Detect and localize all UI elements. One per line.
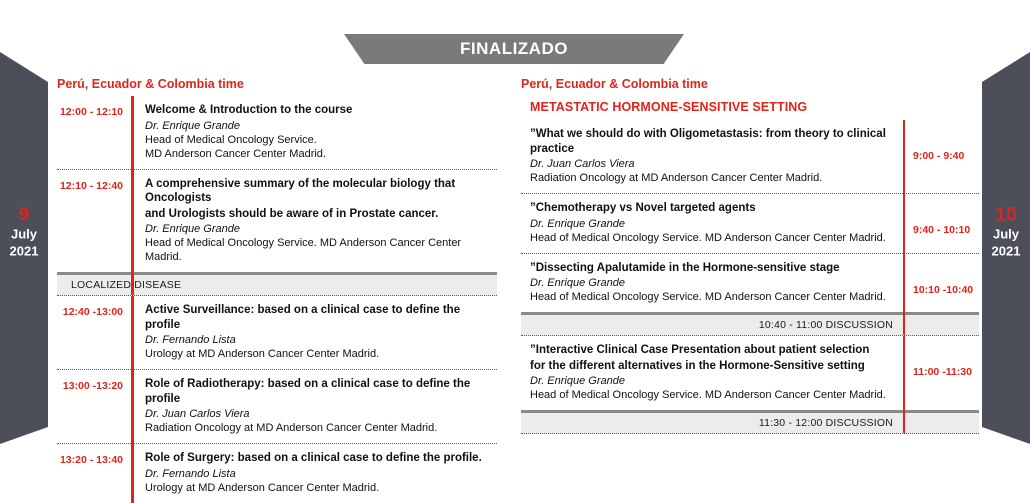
date-right-day: 10 (982, 205, 1030, 226)
date-right-year: 2021 (982, 243, 1030, 260)
timeline-rail-segment (131, 272, 134, 295)
agenda-column-day2: Perú, Ecuador & Colombia time METASTATIC… (521, 76, 979, 434)
date-block-right: 10 July 2021 (982, 20, 1030, 444)
discussion-band-label: 11:30 - 12:00 DISCUSSION (759, 417, 893, 429)
session-speaker: Dr. Enrique Grande (530, 217, 889, 231)
session-speaker: Dr. Juan Carlos Viera (145, 407, 497, 421)
left-session-group-1: 12:00 - 12:10 Welcome & Introduction to … (57, 96, 497, 272)
session-row[interactable]: ”Dissecting Apalutamide in the Hormone-s… (521, 253, 979, 313)
session-title: Welcome & Introduction to the course (145, 103, 497, 118)
session-time: 9:40 - 10:10 (903, 201, 979, 237)
session-row[interactable]: ”What we should do with Oligometastasis:… (521, 120, 979, 193)
session-speaker: Dr. Enrique Grande (530, 276, 889, 290)
date-left-year: 2021 (0, 243, 48, 260)
session-affiliation: Head of Medical Oncology Service. MD And… (530, 290, 889, 304)
date-left-day: 9 (0, 205, 48, 226)
session-speaker: Dr. Juan Carlos Viera (530, 157, 889, 171)
discussion-band-label: 10:40 - 11:00 DISCUSSION (759, 319, 893, 331)
discussion-band-1: 10:40 - 11:00 DISCUSSION (521, 312, 979, 336)
right-timezone-heading: Perú, Ecuador & Colombia time (521, 76, 979, 92)
session-title: Role of Surgery: based on a clinical cas… (145, 451, 497, 466)
right-section-heading: METASTATIC HORMONE-SENSITIVE SETTING (530, 99, 979, 115)
right-session-group-2: ”Interactive Clinical Case Presentation … (521, 336, 979, 410)
session-title: Role of Radiotherapy: based on a clinica… (145, 377, 497, 406)
session-row[interactable]: ”Chemotherapy vs Novel targeted agents D… (521, 193, 979, 253)
session-affiliation: Urology at MD Anderson Cancer Center Mad… (145, 347, 497, 361)
session-title: ”Dissecting Apalutamide in the Hormone-s… (530, 261, 889, 276)
status-banner-label: FINALIZADO (460, 39, 568, 59)
session-speaker: Dr. Fernando Lista (145, 333, 497, 347)
session-title: Active Surveillance: based on a clinical… (145, 303, 497, 332)
session-row[interactable]: 13:20 - 13:40 Role of Surgery: based on … (57, 443, 497, 503)
date-left-month: July (0, 226, 48, 243)
session-time: 11:00 -11:30 (903, 343, 979, 379)
section-band-label: LOCALIZED DISEASE (71, 279, 181, 291)
right-session-group-1: ”What we should do with Oligometastasis:… (521, 120, 979, 312)
left-session-group-2: 12:40 -13:00 Active Surveillance: based … (57, 296, 497, 503)
session-row[interactable]: 12:40 -13:00 Active Surveillance: based … (57, 296, 497, 369)
session-affiliation: Head of Medical Oncology Service. MD And… (530, 231, 889, 245)
session-row[interactable]: 12:00 - 12:10 Welcome & Introduction to … (57, 96, 497, 169)
session-time: 9:00 - 9:40 (903, 127, 979, 163)
session-title: ”Chemotherapy vs Novel targeted agents (530, 201, 889, 216)
date-block-left: 9 July 2021 (0, 20, 48, 444)
session-affiliation: Head of Medical Oncology Service. MD And… (530, 388, 889, 402)
session-time: 12:00 - 12:10 (57, 103, 131, 119)
session-time: 13:20 - 13:40 (57, 451, 131, 467)
session-affiliation: Radiation Oncology at MD Anderson Cancer… (530, 171, 889, 185)
session-time: 13:00 -13:20 (57, 377, 131, 393)
session-title: A comprehensive summary of the molecular… (145, 177, 497, 206)
session-affiliation: Urology at MD Anderson Cancer Center Mad… (145, 481, 497, 495)
session-row[interactable]: ”Interactive Clinical Case Presentation … (521, 336, 979, 410)
session-speaker: Dr. Enrique Grande (530, 374, 889, 388)
section-band-localized-disease: LOCALIZED DISEASE (57, 272, 497, 296)
session-affiliation-2: MD Anderson Cancer Center Madrid. (145, 147, 497, 161)
session-title-2: for the different alternatives in the Ho… (530, 359, 889, 374)
left-timezone-heading: Perú, Ecuador & Colombia time (57, 76, 497, 92)
session-affiliation: Head of Medical Oncology Service. (145, 133, 497, 147)
session-time: 10:10 -10:40 (903, 261, 979, 297)
session-speaker: Dr. Enrique Grande (145, 222, 497, 236)
discussion-band-2: 11:30 - 12:00 DISCUSSION (521, 410, 979, 434)
date-right-month: July (982, 226, 1030, 243)
session-title-2: and Urologists should be aware of in Pro… (145, 207, 497, 222)
session-affiliation: Radiation Oncology at MD Anderson Cancer… (145, 421, 497, 435)
timeline-rail-segment (903, 312, 906, 335)
session-time: 12:40 -13:00 (57, 303, 131, 319)
session-affiliation: Head of Medical Oncology Service. MD And… (145, 236, 497, 264)
session-row[interactable]: 12:10 - 12:40 A comprehensive summary of… (57, 169, 497, 273)
session-row[interactable]: 13:00 -13:20 Role of Radiotherapy: based… (57, 369, 497, 443)
session-title: ”Interactive Clinical Case Presentation … (530, 343, 889, 358)
status-banner: FINALIZADO (344, 34, 684, 64)
agenda-column-day1: Perú, Ecuador & Colombia time 12:00 - 12… (57, 76, 497, 503)
session-title: ”What we should do with Oligometastasis:… (530, 127, 889, 156)
session-speaker: Dr. Enrique Grande (145, 119, 497, 133)
session-time: 12:10 - 12:40 (57, 177, 131, 193)
session-speaker: Dr. Fernando Lista (145, 467, 497, 481)
timeline-rail-segment (903, 410, 906, 433)
